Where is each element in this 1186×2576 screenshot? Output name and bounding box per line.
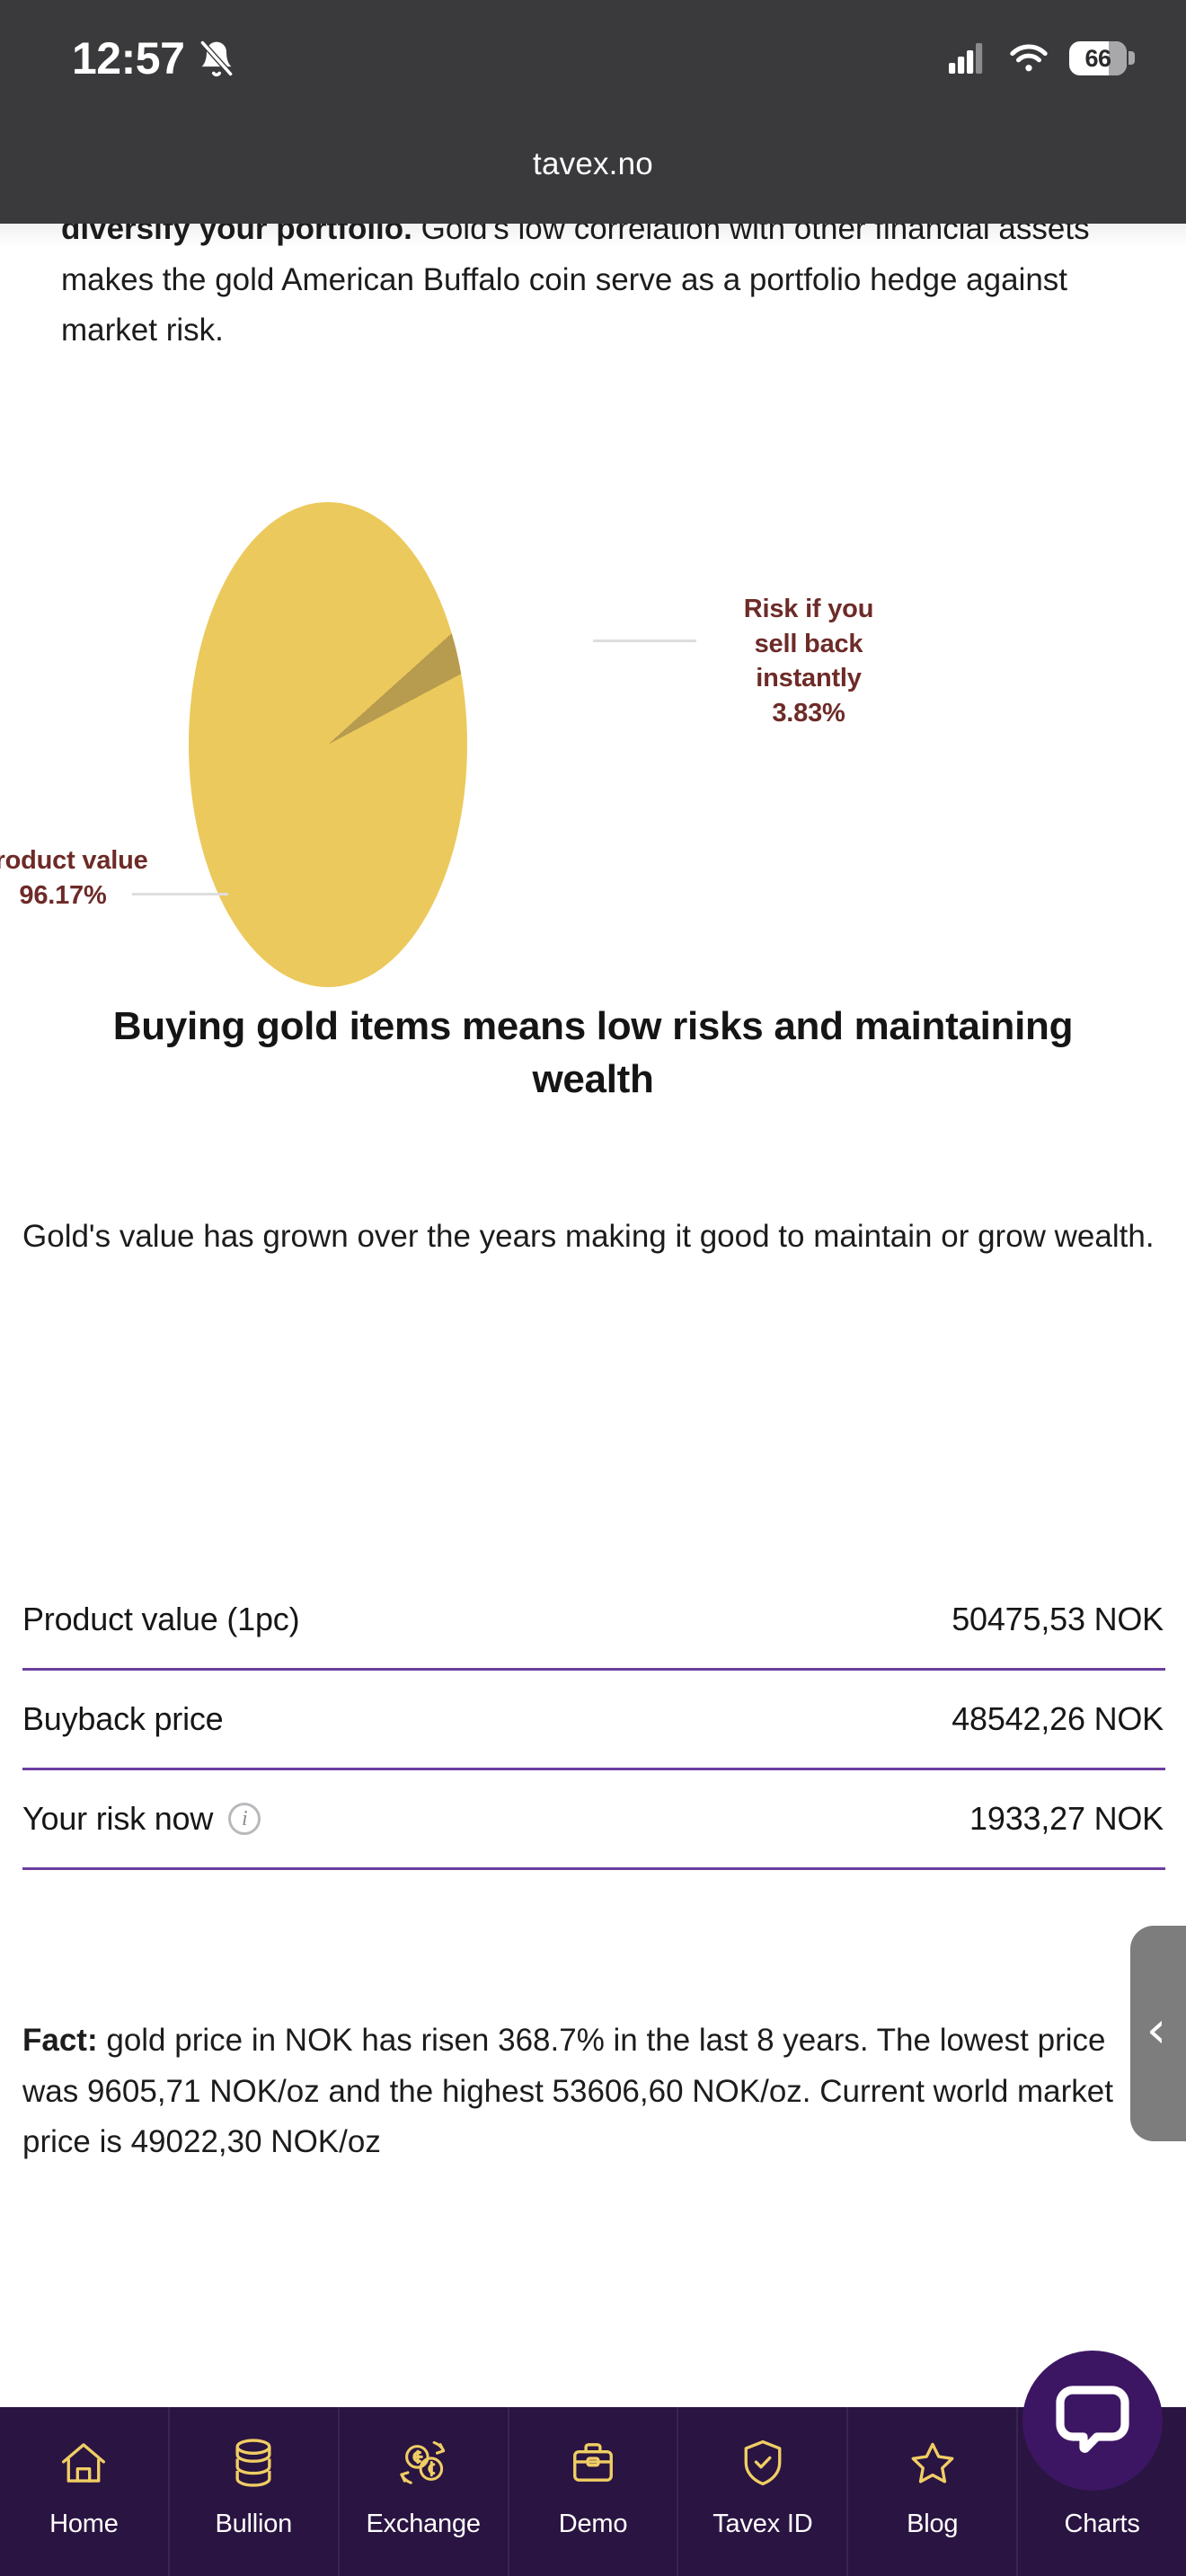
home-icon xyxy=(58,2430,110,2495)
pie-leader-line-right xyxy=(593,640,696,642)
browser-chrome: 12:57 xyxy=(0,0,1186,224)
pie-label-product-value-percent: 96.17% xyxy=(0,878,216,913)
intro-bold-lead: diversify your portfolio. xyxy=(61,224,412,246)
pie-label-risk-line2: sell back xyxy=(701,627,916,662)
fact-lead: Fact: xyxy=(22,2023,98,2058)
section-body-paragraph: Gold's value has grown over the years ma… xyxy=(22,1212,1173,1263)
row-label-buyback-price: Buyback price xyxy=(22,1700,224,1738)
risk-pie-chart: Risk if you sell back instantly 3.83% Pr… xyxy=(0,493,1186,996)
url-domain-text: tavex.no xyxy=(533,146,653,182)
nav-item-exchange[interactable]: Exchange xyxy=(340,2407,509,2576)
row-label-product-value: Product value (1pc) xyxy=(22,1601,299,1638)
wifi-icon xyxy=(1008,42,1049,75)
coin-stack-icon xyxy=(229,2430,278,2495)
pie-label-risk-line3: instantly xyxy=(701,661,916,696)
row-value-product-value: 50475,53 NOK xyxy=(951,1601,1165,1638)
side-panel-toggle[interactable]: ‹ xyxy=(1130,1926,1186,2141)
row-label-text: Buyback price xyxy=(22,1700,224,1738)
nav-label: Exchange xyxy=(366,2510,480,2539)
nav-label: Home xyxy=(49,2510,119,2539)
chat-widget-button[interactable] xyxy=(1022,2351,1163,2491)
nav-item-blog[interactable]: Blog xyxy=(848,2407,1018,2576)
fact-text: gold price in NOK has risen 368.7% in th… xyxy=(22,2023,1113,2159)
status-bar-left: 12:57 xyxy=(72,36,236,81)
table-row: Product value (1pc) 50475,53 NOK xyxy=(22,1571,1165,1671)
phone-screen: 12:57 xyxy=(0,0,1186,2576)
nav-item-demo[interactable]: Demo xyxy=(509,2407,679,2576)
bell-off-icon xyxy=(197,38,236,79)
row-label-text: Product value (1pc) xyxy=(22,1601,299,1638)
briefcase-icon xyxy=(569,2430,617,2495)
chat-bubble-icon xyxy=(1051,2379,1134,2462)
web-page-content: diversify your portfolio. Gold's low cor… xyxy=(0,224,1186,2576)
chevron-left-icon: ‹ xyxy=(1146,2006,1166,2056)
pie-slice-risk xyxy=(189,502,467,987)
nav-item-tavex-id[interactable]: Tavex ID xyxy=(678,2407,848,2576)
nav-item-bullion[interactable]: Bullion xyxy=(170,2407,340,2576)
row-value-buyback-price: 48542,26 NOK xyxy=(951,1700,1165,1738)
info-icon[interactable]: i xyxy=(228,1803,261,1835)
browser-url-bar[interactable]: tavex.no xyxy=(0,117,1186,211)
nav-label: Tavex ID xyxy=(712,2510,812,2539)
status-bar: 12:57 xyxy=(0,0,1186,117)
intro-paragraph: diversify your portfolio. Gold's low cor… xyxy=(61,224,1130,357)
page-title: Buying gold items means low risks and ma… xyxy=(99,1001,1087,1106)
battery-icon: 66 xyxy=(1069,41,1127,75)
row-value-your-risk-now: 1933,27 NOK xyxy=(969,1800,1165,1838)
pie-label-risk: Risk if you sell back instantly 3.83% xyxy=(701,592,916,730)
pie-label-product-value-line1: Product value xyxy=(0,843,216,878)
star-icon xyxy=(907,2430,958,2495)
battery-percent: 66 xyxy=(1084,45,1111,73)
table-row: Buyback price 48542,26 NOK xyxy=(22,1671,1165,1770)
nav-label: Demo xyxy=(559,2510,628,2539)
status-bar-right: 66 xyxy=(949,41,1127,75)
nav-label: Charts xyxy=(1064,2510,1139,2539)
row-label-your-risk-now: Your risk now i xyxy=(22,1800,261,1838)
clock: 12:57 xyxy=(72,36,184,81)
row-label-text: Your risk now xyxy=(22,1800,213,1838)
currency-exchange-icon xyxy=(395,2430,451,2495)
pie-label-product-value: Product value 96.17% xyxy=(0,843,216,913)
bottom-navigation-bar: Home Bullion xyxy=(0,2407,1186,2576)
cellular-signal-icon xyxy=(949,43,988,74)
fact-paragraph: Fact: gold price in NOK has risen 368.7%… xyxy=(22,2016,1164,2168)
pie-label-risk-percent: 3.83% xyxy=(701,696,916,731)
shield-check-icon xyxy=(739,2430,787,2495)
price-summary-table: Product value (1pc) 50475,53 NOK Buyback… xyxy=(22,1571,1165,1870)
nav-item-home[interactable]: Home xyxy=(0,2407,170,2576)
nav-label: Bullion xyxy=(215,2510,292,2539)
pie-label-risk-line1: Risk if you xyxy=(701,592,916,627)
nav-label: Blog xyxy=(907,2510,958,2539)
table-row: Your risk now i 1933,27 NOK xyxy=(22,1770,1165,1870)
